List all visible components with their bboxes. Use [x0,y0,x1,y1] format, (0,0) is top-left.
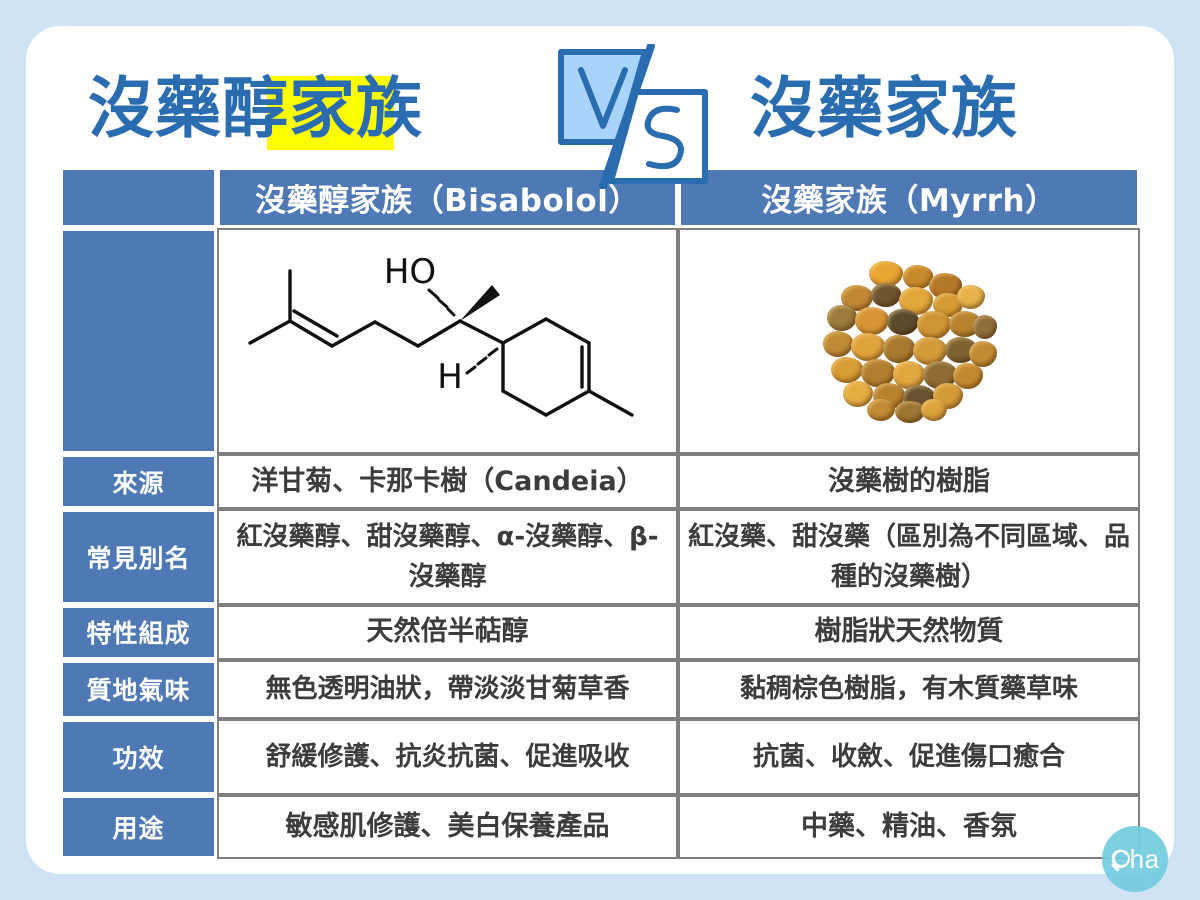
wedge-bond-methyl [460,285,500,321]
table-row: 質地氣味 無色透明油狀，帶淡淡甘菊草香 黏稠棕色樹脂，有木質藥草味 [60,660,1140,719]
cell-texture-myrrh: 黏稠棕色樹脂，有木質藥草味 [678,660,1140,719]
myrrh-photo-cell [678,228,1140,454]
row-label-benefits: 功效 [60,719,217,795]
comparison-table: 沒藥醇家族（Bisabolol） 沒藥家族（Myrrh） [60,167,1140,859]
table-media-row: HO H [60,228,1140,454]
header-column-myrrh: 沒藥家族（Myrrh） [678,167,1140,228]
table-row: 功效 舒緩修護、抗炎抗菌、促進吸收 抗菌、收斂、促進傷口癒合 [60,719,1140,795]
row-label-aliases: 常見別名 [60,509,217,604]
atom-label-hydroxyl: HO [383,252,435,292]
title-left-term: 沒藥醇家族 [88,66,423,152]
table-row: 特性組成 天然倍半萜醇 樹脂狀天然物質 [60,605,1140,660]
row-label-composition: 特性組成 [60,605,217,660]
vs-badge-icon [553,44,743,184]
bisabolol-structure-cell: HO H [217,228,678,454]
table-row: 常見別名 紅沒藥醇、甜沒藥醇、α-沒藥醇、β-沒藥醇 紅沒藥、甜沒藥（區別為不同… [60,509,1140,604]
cell-source-myrrh: 沒藥樹的樹脂 [678,454,1140,509]
table-row: 來源 洋甘菊、卡那卡樹（Candeia） 沒藥樹的樹脂 [60,454,1140,509]
cell-benefits-myrrh: 抗菌、收斂、促進傷口癒合 [678,719,1140,795]
page-title: 沒藥醇家族 沒藥家族 [60,44,1150,164]
cell-composition-myrrh: 樹脂狀天然物質 [678,605,1140,660]
watermark-label: Cha [1102,826,1168,892]
row-label-source: 來源 [60,454,217,509]
watermark-badge: Cha [1102,826,1168,892]
myrrh-resin-granules [817,259,1002,424]
atom-label-hydrogen: H [437,357,463,397]
media-row-label-blank [60,228,217,454]
bisabolol-chemical-structure: HO H [238,243,658,439]
hash-bond-hydroxyl [429,290,454,315]
cell-composition-bisabolol: 天然倍半萜醇 [217,605,678,660]
cell-aliases-myrrh: 紅沒藥、甜沒藥（區別為不同區域、品種的沒藥樹） [678,509,1140,604]
cell-source-bisabolol: 洋甘菊、卡那卡樹（Candeia） [217,454,678,509]
cell-uses-bisabolol: 敏感肌修護、美白保養產品 [217,795,678,859]
table-row: 用途 敏感肌修護、美白保養產品 中藥、精油、香氛 [60,795,1140,859]
row-label-uses: 用途 [60,795,217,859]
title-right-term: 沒藥家族 [750,66,1018,152]
cell-texture-bisabolol: 無色透明油狀，帶淡淡甘菊草香 [217,660,678,719]
hash-bond-hydrogen [467,349,497,373]
row-label-texture-scent: 質地氣味 [60,660,217,719]
cell-aliases-bisabolol: 紅沒藥醇、甜沒藥醇、α-沒藥醇、β-沒藥醇 [217,509,678,604]
cell-benefits-bisabolol: 舒緩修護、抗炎抗菌、促進吸收 [217,719,678,795]
header-label-blank [60,167,217,228]
cell-uses-myrrh: 中藥、精油、香氛 [678,795,1140,859]
